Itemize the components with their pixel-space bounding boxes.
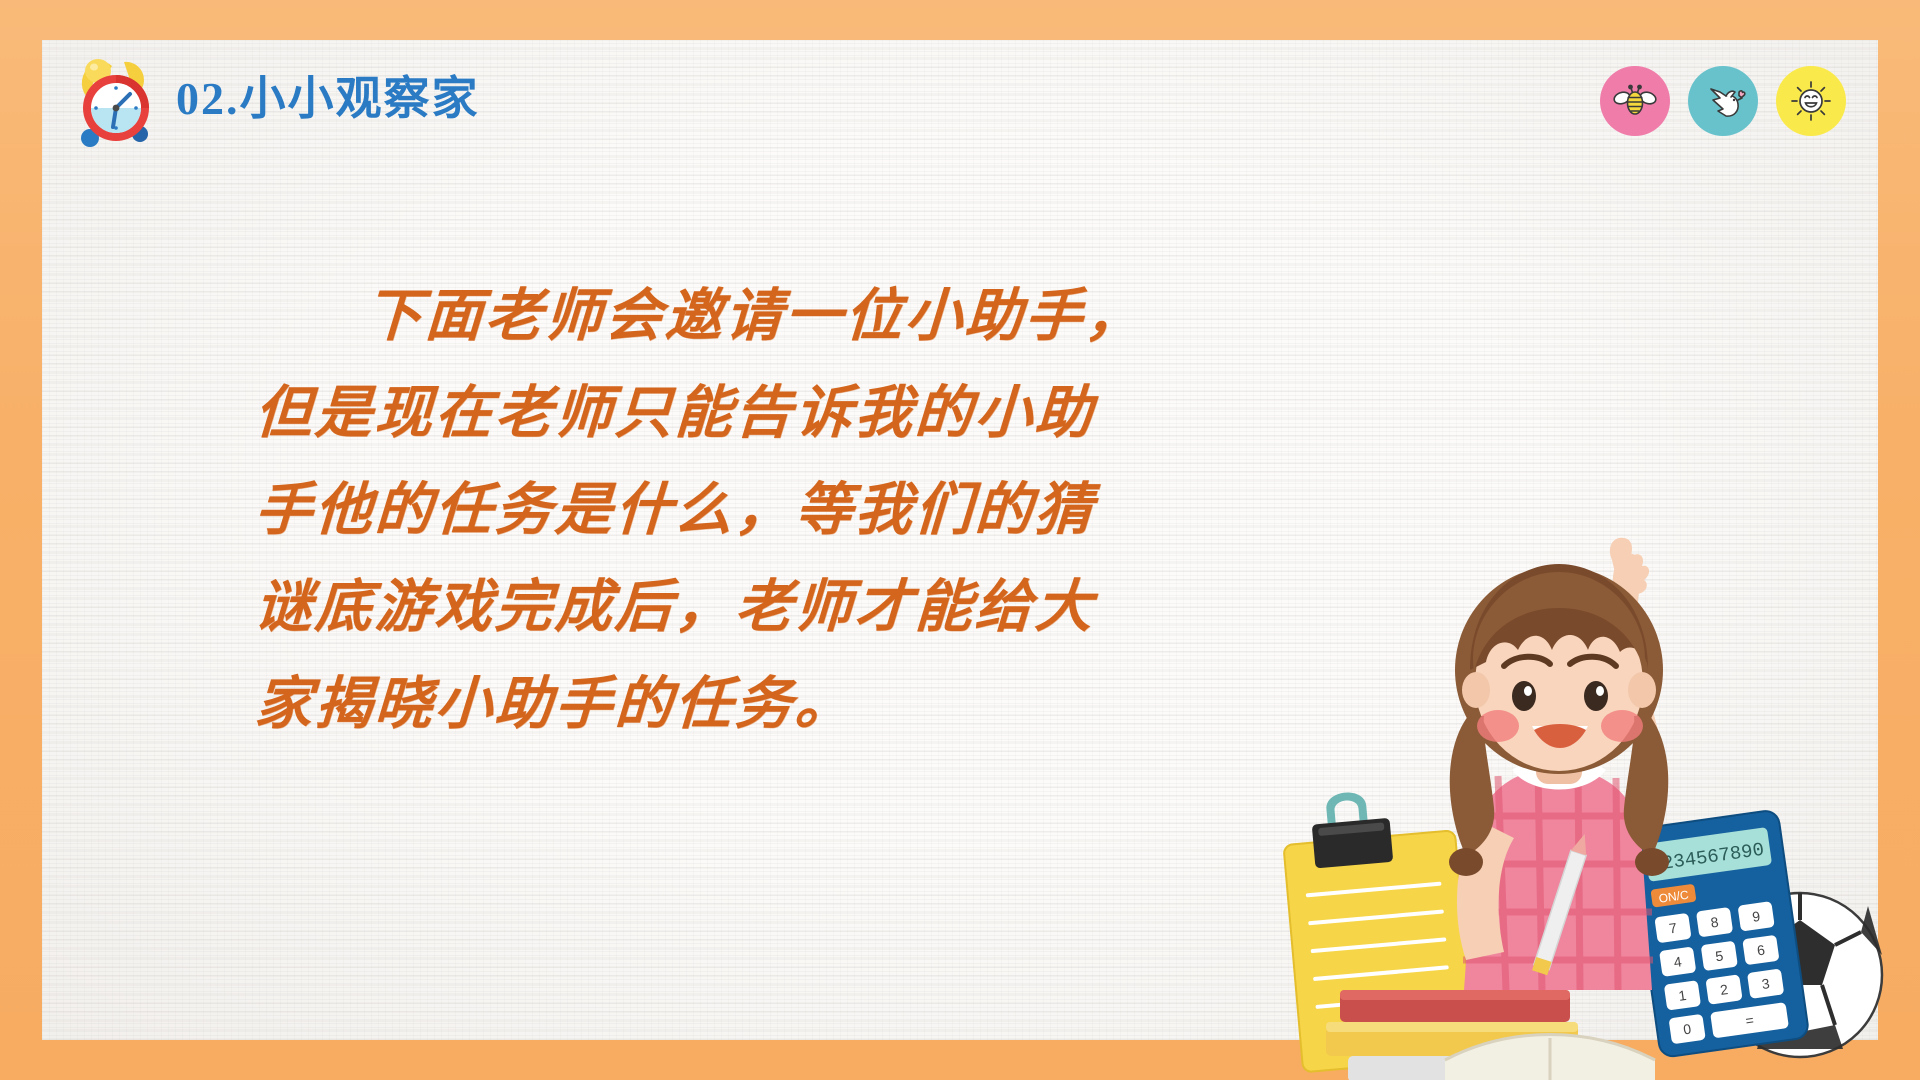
body-line: 但是现在老师只能告诉我的小助	[252, 365, 1077, 462]
badge-bee[interactable]	[1600, 66, 1670, 136]
body-line: 家揭晓小助手的任务。	[252, 656, 1077, 753]
badge-row	[1600, 66, 1846, 136]
badge-sun[interactable]	[1776, 66, 1846, 136]
dove-icon	[1698, 76, 1748, 126]
title-group: 02.小小观察家	[66, 52, 480, 152]
slide-canvas: 02.小小观察家	[0, 0, 1920, 1080]
bee-icon	[1611, 77, 1659, 125]
girl-raising-hand-illustration: 1234567890 ON/C 789	[1260, 520, 1920, 1080]
badge-dove[interactable]	[1688, 66, 1758, 136]
page-title: 02.小小观察家	[176, 76, 480, 128]
binder-clip-icon	[1309, 789, 1393, 869]
sun-icon	[1786, 76, 1836, 126]
body-line: 手他的任务是什么，等我们的猜	[252, 462, 1077, 559]
body-line: 下面老师会邀请一位小助手，	[252, 268, 1077, 365]
calculator-icon: 1234567890 ON/C 789	[1629, 809, 1810, 1058]
body-paragraph: 下面老师会邀请一位小助手， 但是现在老师只能告诉我的小助 手他的任务是什么，等我…	[255, 268, 1075, 753]
body-line: 谜底游戏完成后，老师才能给大	[252, 559, 1077, 656]
alarm-clock-icon	[66, 52, 162, 152]
header: 02.小小观察家	[0, 0, 1920, 160]
